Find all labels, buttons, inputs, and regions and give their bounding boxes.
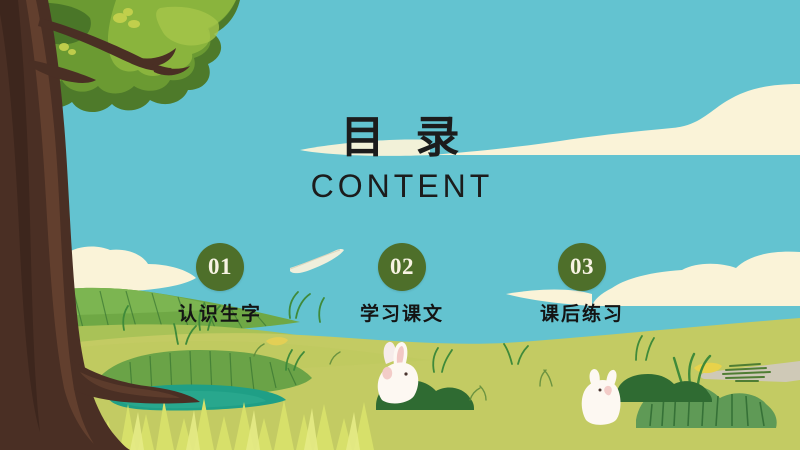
toc-item-3[interactable]: 03 课后练习 (492, 243, 672, 326)
toc-item-3-label[interactable]: 课后练习 (492, 299, 672, 326)
tree-layer (0, 0, 800, 450)
toc-items: 01 认识生字 02 学习课文 03 课后练习 (0, 243, 800, 333)
toc-item-1-number[interactable]: 01 (196, 243, 244, 291)
toc-item-2-number[interactable]: 02 (378, 243, 426, 291)
toc-item-3-number[interactable]: 03 (558, 243, 606, 291)
toc-item-2[interactable]: 02 学习课文 (312, 243, 492, 326)
toc-item-1[interactable]: 01 认识生字 (130, 243, 310, 326)
slide-canvas: 目 录 CONTENT 01 认识生字 02 学习课文 03 课后练习 (0, 0, 800, 450)
toc-item-2-label[interactable]: 学习课文 (312, 299, 492, 326)
toc-item-1-label[interactable]: 认识生字 (130, 299, 310, 326)
